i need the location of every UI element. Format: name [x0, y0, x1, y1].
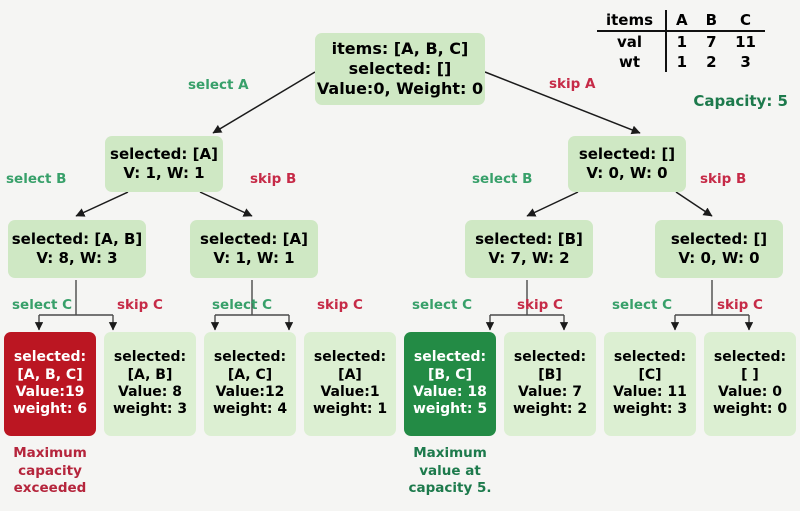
node-empty[interactable]: selected: [] V: 0, W: 0 [655, 220, 783, 278]
node-empty-vw: V: 0, W: 0 [678, 249, 759, 268]
edge-label-select-c-1: select C [12, 297, 72, 313]
node-root-selected: selected: [] [349, 59, 452, 79]
leaf-ab-selected-label: selected: [114, 349, 186, 366]
leaf-ab-value: Value: 8 [118, 384, 182, 401]
table-col-b: B [697, 10, 726, 31]
table-wt-b: 2 [697, 52, 726, 72]
leaf-ac[interactable]: selected: [A, C] Value:12 weight: 4 [204, 332, 296, 436]
node-b-selected: selected: [B] [475, 230, 583, 249]
node-b[interactable]: selected: [B] V: 7, W: 2 [465, 220, 593, 278]
leaf-c-weight: weight: 3 [613, 401, 687, 418]
table-col-c: C [726, 10, 765, 31]
leaf-abc-selected-label: selected: [14, 349, 86, 366]
node-a-vw: V: 1, W: 1 [213, 249, 294, 268]
leaf-ac-weight: weight: 4 [213, 401, 287, 418]
leaf-b-selected-label: selected: [514, 349, 586, 366]
leaf-bc-selected-label: selected: [414, 349, 486, 366]
edge-label-skip-b-right: skip B [700, 171, 746, 187]
leaf-abc-weight: weight: 6 [13, 401, 87, 418]
edge-label-select-a: select A [188, 77, 249, 93]
edge-label-select-c-3: select C [412, 297, 472, 313]
node-root-items: items: [A, B, C] [332, 39, 469, 59]
leaf-a-value: Value:1 [320, 384, 379, 401]
node-skip-a-vw: V: 0, W: 0 [586, 164, 667, 183]
node-empty-selected: selected: [] [671, 230, 767, 249]
table-wt-a: 1 [666, 52, 697, 72]
node-ab-selected: selected: [A, B] [12, 230, 143, 249]
node-root[interactable]: items: [A, B, C] selected: [] Value:0, W… [315, 33, 485, 105]
edge-select-b-right [527, 192, 578, 216]
table-val-b: 7 [697, 31, 726, 52]
leaf-bc-value: Value: 18 [413, 384, 487, 401]
leaf-abc[interactable]: selected: [A, B, C] Value:19 weight: 6 [4, 332, 96, 436]
leaf-none-value: Value: 0 [718, 384, 782, 401]
table-row-wt-label: wt [597, 52, 666, 72]
edge-label-select-c-4: select C [612, 297, 672, 313]
leaf-bc-weight: weight: 5 [413, 401, 487, 418]
node-select-a-selected: selected: [A] [110, 145, 218, 164]
leaf-bc-set: [B, C] [428, 367, 472, 384]
table-wt-c: 3 [726, 52, 765, 72]
leaf-none[interactable]: selected: [ ] Value: 0 weight: 0 [704, 332, 796, 436]
leaf-none-selected-label: selected: [714, 349, 786, 366]
table-val-c: 11 [726, 31, 765, 52]
leaf-ac-set: [A, C] [228, 367, 272, 384]
edge-skip-b-right [676, 192, 712, 216]
leaf-b[interactable]: selected: [B] Value: 7 weight: 2 [504, 332, 596, 436]
node-ab[interactable]: selected: [A, B] V: 8, W: 3 [8, 220, 146, 278]
table-corner-label: items [597, 10, 666, 31]
edge-label-select-c-2: select C [212, 297, 272, 313]
leaf-bc[interactable]: selected: [B, C] Value: 18 weight: 5 [404, 332, 496, 436]
edge-label-skip-c-1: skip C [117, 297, 163, 313]
leaf-ab-weight: weight: 3 [113, 401, 187, 418]
decision-tree-canvas: items A B C val 1 7 11 wt 1 2 3 Capacity… [0, 0, 800, 511]
leaf-a-weight: weight: 1 [313, 401, 387, 418]
edge-label-skip-b-left: skip B [250, 171, 296, 187]
caption-capacity-exceeded: Maximum capacity exceeded [4, 445, 96, 498]
leaf-c[interactable]: selected: [C] Value: 11 weight: 3 [604, 332, 696, 436]
edge-label-select-b-right: select B [472, 171, 532, 187]
node-b-vw: V: 7, W: 2 [488, 249, 569, 268]
node-a[interactable]: selected: [A] V: 1, W: 1 [190, 220, 318, 278]
leaf-a-selected-label: selected: [314, 349, 386, 366]
capacity-label: Capacity: 5 [693, 92, 788, 110]
edge-skip-b-left [200, 192, 252, 216]
node-a-selected: selected: [A] [200, 230, 308, 249]
leaf-ac-selected-label: selected: [214, 349, 286, 366]
leaf-ab-set: [A, B] [128, 367, 173, 384]
edge-label-skip-c-2: skip C [317, 297, 363, 313]
table-row-val-label: val [597, 31, 666, 52]
node-select-a-vw: V: 1, W: 1 [123, 164, 204, 183]
table-val-a: 1 [666, 31, 697, 52]
leaf-b-value: Value: 7 [518, 384, 582, 401]
node-select-a[interactable]: selected: [A] V: 1, W: 1 [105, 136, 223, 192]
leaf-c-selected-label: selected: [614, 349, 686, 366]
edge-label-skip-a: skip A [549, 76, 595, 92]
leaf-none-weight: weight: 0 [713, 401, 787, 418]
node-skip-a-selected: selected: [] [579, 145, 675, 164]
leaf-c-set: [C] [638, 367, 661, 384]
caption-maximum-value: Maximum value at capacity 5. [398, 445, 502, 498]
node-root-value-weight: Value:0, Weight: 0 [317, 79, 483, 99]
leaf-a[interactable]: selected: [A] Value:1 weight: 1 [304, 332, 396, 436]
leaf-ab[interactable]: selected: [A, B] Value: 8 weight: 3 [104, 332, 196, 436]
leaf-b-weight: weight: 2 [513, 401, 587, 418]
edge-label-skip-c-4: skip C [717, 297, 763, 313]
edge-label-skip-c-3: skip C [517, 297, 563, 313]
node-skip-a[interactable]: selected: [] V: 0, W: 0 [568, 136, 686, 192]
items-table: items A B C val 1 7 11 wt 1 2 3 [597, 10, 765, 72]
edge-label-select-b-left: select B [6, 171, 66, 187]
leaf-ac-value: Value:12 [216, 384, 285, 401]
leaf-abc-value: Value:19 [16, 384, 85, 401]
table-col-a: A [666, 10, 697, 31]
node-ab-vw: V: 8, W: 3 [36, 249, 117, 268]
leaf-c-value: Value: 11 [613, 384, 687, 401]
leaf-none-set: [ ] [741, 367, 759, 384]
edge-select-b-left [76, 192, 128, 216]
leaf-b-set: [B] [538, 367, 561, 384]
leaf-abc-set: [A, B, C] [17, 367, 82, 384]
leaf-a-set: [A] [338, 367, 362, 384]
